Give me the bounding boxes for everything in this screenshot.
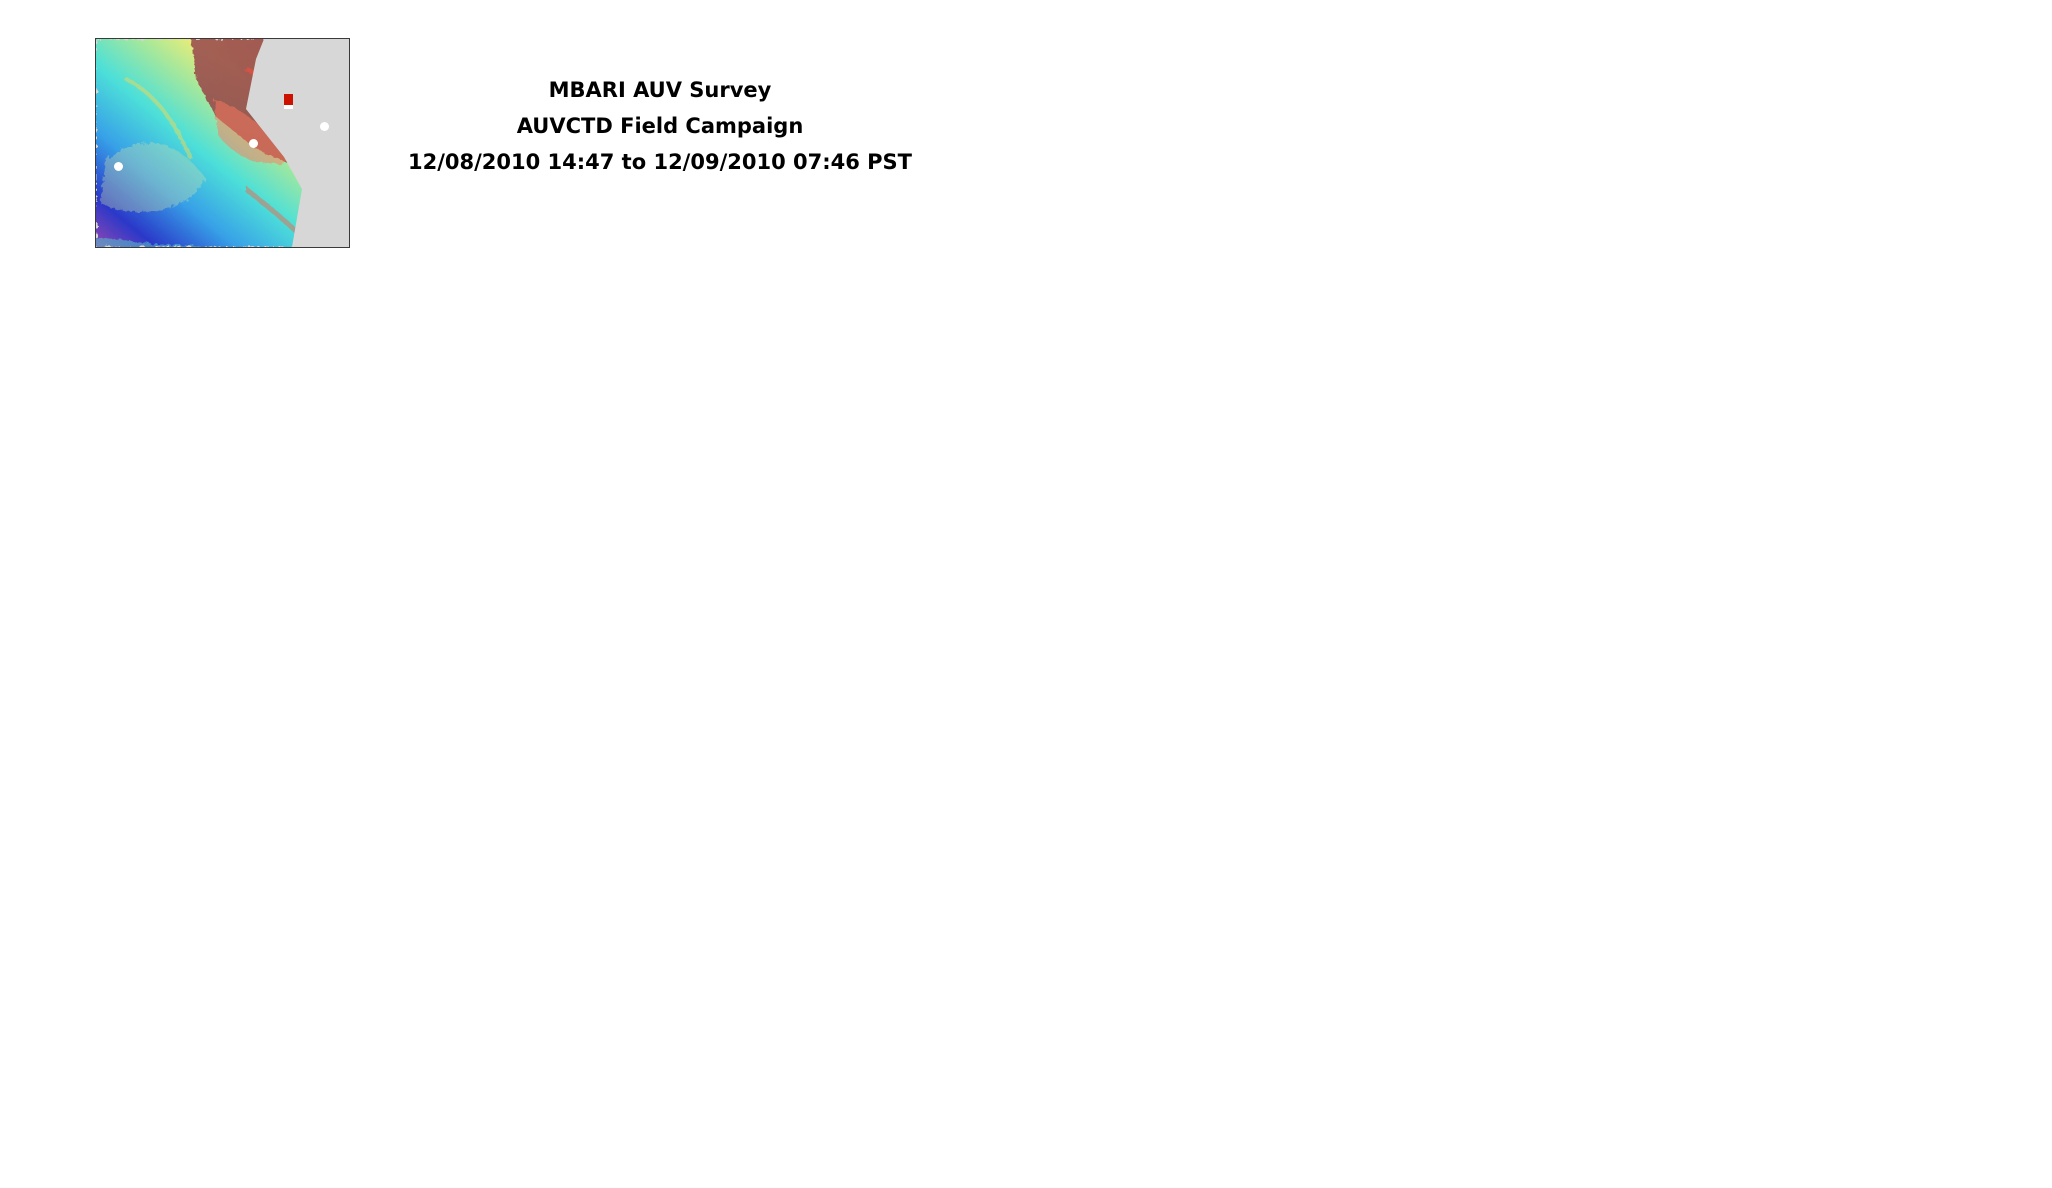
map-survey-site-marker: [284, 94, 293, 105]
map-waypoint-2: [249, 139, 258, 148]
title-line-2: AUVCTD Field Campaign: [400, 108, 920, 144]
title-line-3: 12/08/2010 14:47 to 12/09/2010 07:46 PST: [400, 144, 920, 180]
bathymetry-map-inset: [95, 38, 350, 248]
title-line-1: MBARI AUV Survey: [400, 72, 920, 108]
map-waypoint-1: [114, 162, 123, 171]
map-waypoint-3: [320, 122, 329, 131]
bathymetry-map-image: [96, 39, 349, 247]
figure-title: MBARI AUV Survey AUVCTD Field Campaign 1…: [400, 72, 920, 180]
